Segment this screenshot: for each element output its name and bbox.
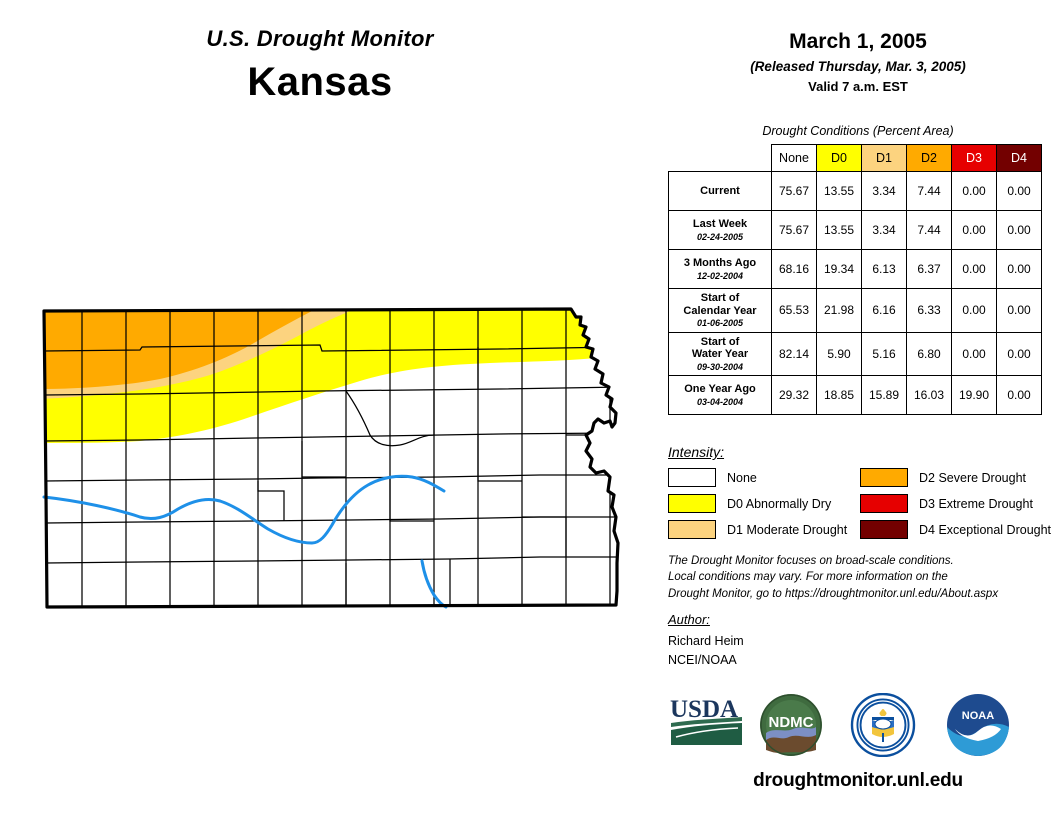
row-label-date: 12-02-2004 [671, 271, 769, 281]
table-caption: Drought Conditions (Percent Area) [660, 124, 1056, 138]
map-svg[interactable] [20, 295, 640, 625]
author-block: Richard Heim NCEI/NOAA [668, 632, 744, 670]
state-title: Kansas [0, 60, 640, 105]
cell-d4: 0.00 [997, 250, 1042, 289]
kansas-drought-map[interactable] [20, 295, 640, 625]
cell-d3: 0.00 [952, 172, 997, 211]
cell-none: 82.14 [772, 332, 817, 376]
cell-d1: 3.34 [862, 172, 907, 211]
map-drought-layer [20, 295, 640, 625]
row-label: 3 Months Ago12-02-2004 [669, 250, 772, 289]
cell-d0: 5.90 [817, 332, 862, 376]
legend-label-d1: D1 Moderate Drought [727, 523, 847, 537]
legend-item-d4[interactable]: D4 Exceptional Drought [860, 518, 1051, 541]
cell-d4: 0.00 [997, 211, 1042, 250]
row-label: One Year Ago03-04-2004 [669, 376, 772, 415]
ndmc-logo-text: NDMC [769, 714, 814, 731]
table-corner-cell [669, 145, 772, 172]
table-head: None D0 D1 D2 D3 D4 [669, 145, 1042, 172]
valid-time: Valid 7 a.m. EST [660, 79, 1056, 94]
table-row: Start ofWater Year09-30-200482.145.905.1… [669, 332, 1042, 376]
cell-d4: 0.00 [997, 172, 1042, 211]
legend-swatch-d3 [860, 494, 908, 513]
cell-d3: 0.00 [952, 211, 997, 250]
cell-d4: 0.00 [997, 332, 1042, 376]
cell-d2: 6.80 [907, 332, 952, 376]
logo-row: USDA NDMC [660, 693, 1056, 761]
table-header-row: None D0 D1 D2 D3 D4 [669, 145, 1042, 172]
table-body: Current75.6713.553.347.440.000.00Last We… [669, 172, 1042, 415]
cell-d4: 0.00 [997, 376, 1042, 415]
ndmc-logo: NDMC [757, 693, 825, 762]
legend-swatch-d2 [860, 468, 908, 487]
cell-d4: 0.00 [997, 289, 1042, 333]
legend-label-d2: D2 Severe Drought [919, 471, 1026, 485]
website-url: droughtmonitor.unl.edu [660, 770, 1056, 792]
legend-swatch-none [668, 468, 716, 487]
cell-none: 65.53 [772, 289, 817, 333]
row-label-date: 09-30-2004 [671, 362, 769, 372]
col-header-d2: D2 [907, 145, 952, 172]
row-label-date: 03-04-2004 [671, 397, 769, 407]
legend-item-d0[interactable]: D0 Abnormally Dry [668, 492, 847, 515]
row-label: Start ofCalendar Year01-06-2005 [669, 289, 772, 333]
row-label: Last Week02-24-2005 [669, 211, 772, 250]
commerce-seal [850, 693, 916, 762]
row-label: Start ofWater Year09-30-2004 [669, 332, 772, 376]
cell-d0: 13.55 [817, 172, 862, 211]
legend-column-left: NoneD0 Abnormally DryD1 Moderate Drought [668, 466, 847, 544]
author-affiliation: NCEI/NOAA [668, 651, 744, 670]
cell-d0: 18.85 [817, 376, 862, 415]
disclaimer-text: The Drought Monitor focuses on broad-sca… [668, 553, 1048, 602]
col-header-d0: D0 [817, 145, 862, 172]
legend-column-right: D2 Severe DroughtD3 Extreme DroughtD4 Ex… [860, 466, 1051, 544]
map-title-block: U.S. Drought Monitor Kansas [0, 26, 640, 105]
release-date: (Released Thursday, Mar. 3, 2005) [660, 59, 1056, 74]
table-row: Last Week02-24-200575.6713.553.347.440.0… [669, 211, 1042, 250]
cell-none: 75.67 [772, 211, 817, 250]
col-header-none: None [772, 145, 817, 172]
cell-d3: 0.00 [952, 250, 997, 289]
report-header: March 1, 2005 (Released Thursday, Mar. 3… [660, 30, 1056, 94]
table-row: One Year Ago03-04-200429.3218.8515.8916.… [669, 376, 1042, 415]
legend-label-d0: D0 Abnormally Dry [727, 497, 831, 511]
cell-d2: 6.37 [907, 250, 952, 289]
cell-d2: 7.44 [907, 172, 952, 211]
legend-label-d4: D4 Exceptional Drought [919, 523, 1051, 537]
col-header-d4: D4 [997, 145, 1042, 172]
legend-label-d3: D3 Extreme Drought [919, 497, 1033, 511]
table-row: Start ofCalendar Year01-06-200565.5321.9… [669, 289, 1042, 333]
cell-none: 68.16 [772, 250, 817, 289]
row-label-date: 01-06-2005 [671, 318, 769, 328]
cell-d3: 19.90 [952, 376, 997, 415]
drought-conditions-table: None D0 D1 D2 D3 D4 Current75.6713.553.3… [668, 144, 1042, 415]
table-row: Current75.6713.553.347.440.000.00 [669, 172, 1042, 211]
legend-label-none: None [727, 471, 757, 485]
cell-d3: 0.00 [952, 332, 997, 376]
cell-d0: 19.34 [817, 250, 862, 289]
cell-d2: 7.44 [907, 211, 952, 250]
row-label-date: 02-24-2005 [671, 232, 769, 242]
legend-item-none[interactable]: None [668, 466, 847, 489]
legend-swatch-d4 [860, 520, 908, 539]
cell-d2: 6.33 [907, 289, 952, 333]
cell-d1: 6.16 [862, 289, 907, 333]
noaa-logo-text: NOAA [962, 710, 994, 722]
legend-item-d2[interactable]: D2 Severe Drought [860, 466, 1051, 489]
cell-none: 29.32 [772, 376, 817, 415]
author-heading: Author: [668, 612, 710, 627]
program-title: U.S. Drought Monitor [0, 26, 640, 52]
cell-d3: 0.00 [952, 289, 997, 333]
cell-d2: 16.03 [907, 376, 952, 415]
author-name: Richard Heim [668, 632, 744, 651]
cell-d1: 5.16 [862, 332, 907, 376]
cell-d0: 21.98 [817, 289, 862, 333]
table-row: 3 Months Ago12-02-200468.1619.346.136.37… [669, 250, 1042, 289]
legend-item-d1[interactable]: D1 Moderate Drought [668, 518, 847, 541]
cell-d0: 13.55 [817, 211, 862, 250]
cell-d1: 3.34 [862, 211, 907, 250]
col-header-d1: D1 [862, 145, 907, 172]
usda-logo: USDA [668, 693, 746, 756]
row-label: Current [669, 172, 772, 211]
cell-d1: 6.13 [862, 250, 907, 289]
col-header-d3: D3 [952, 145, 997, 172]
cell-d1: 15.89 [862, 376, 907, 415]
legend-item-d3[interactable]: D3 Extreme Drought [860, 492, 1051, 515]
legend-swatch-d0 [668, 494, 716, 513]
noaa-logo: NOAA [945, 693, 1011, 762]
legend-swatch-d1 [668, 520, 716, 539]
report-date: March 1, 2005 [660, 30, 1056, 54]
intensity-heading: Intensity: [668, 444, 724, 460]
cell-none: 75.67 [772, 172, 817, 211]
